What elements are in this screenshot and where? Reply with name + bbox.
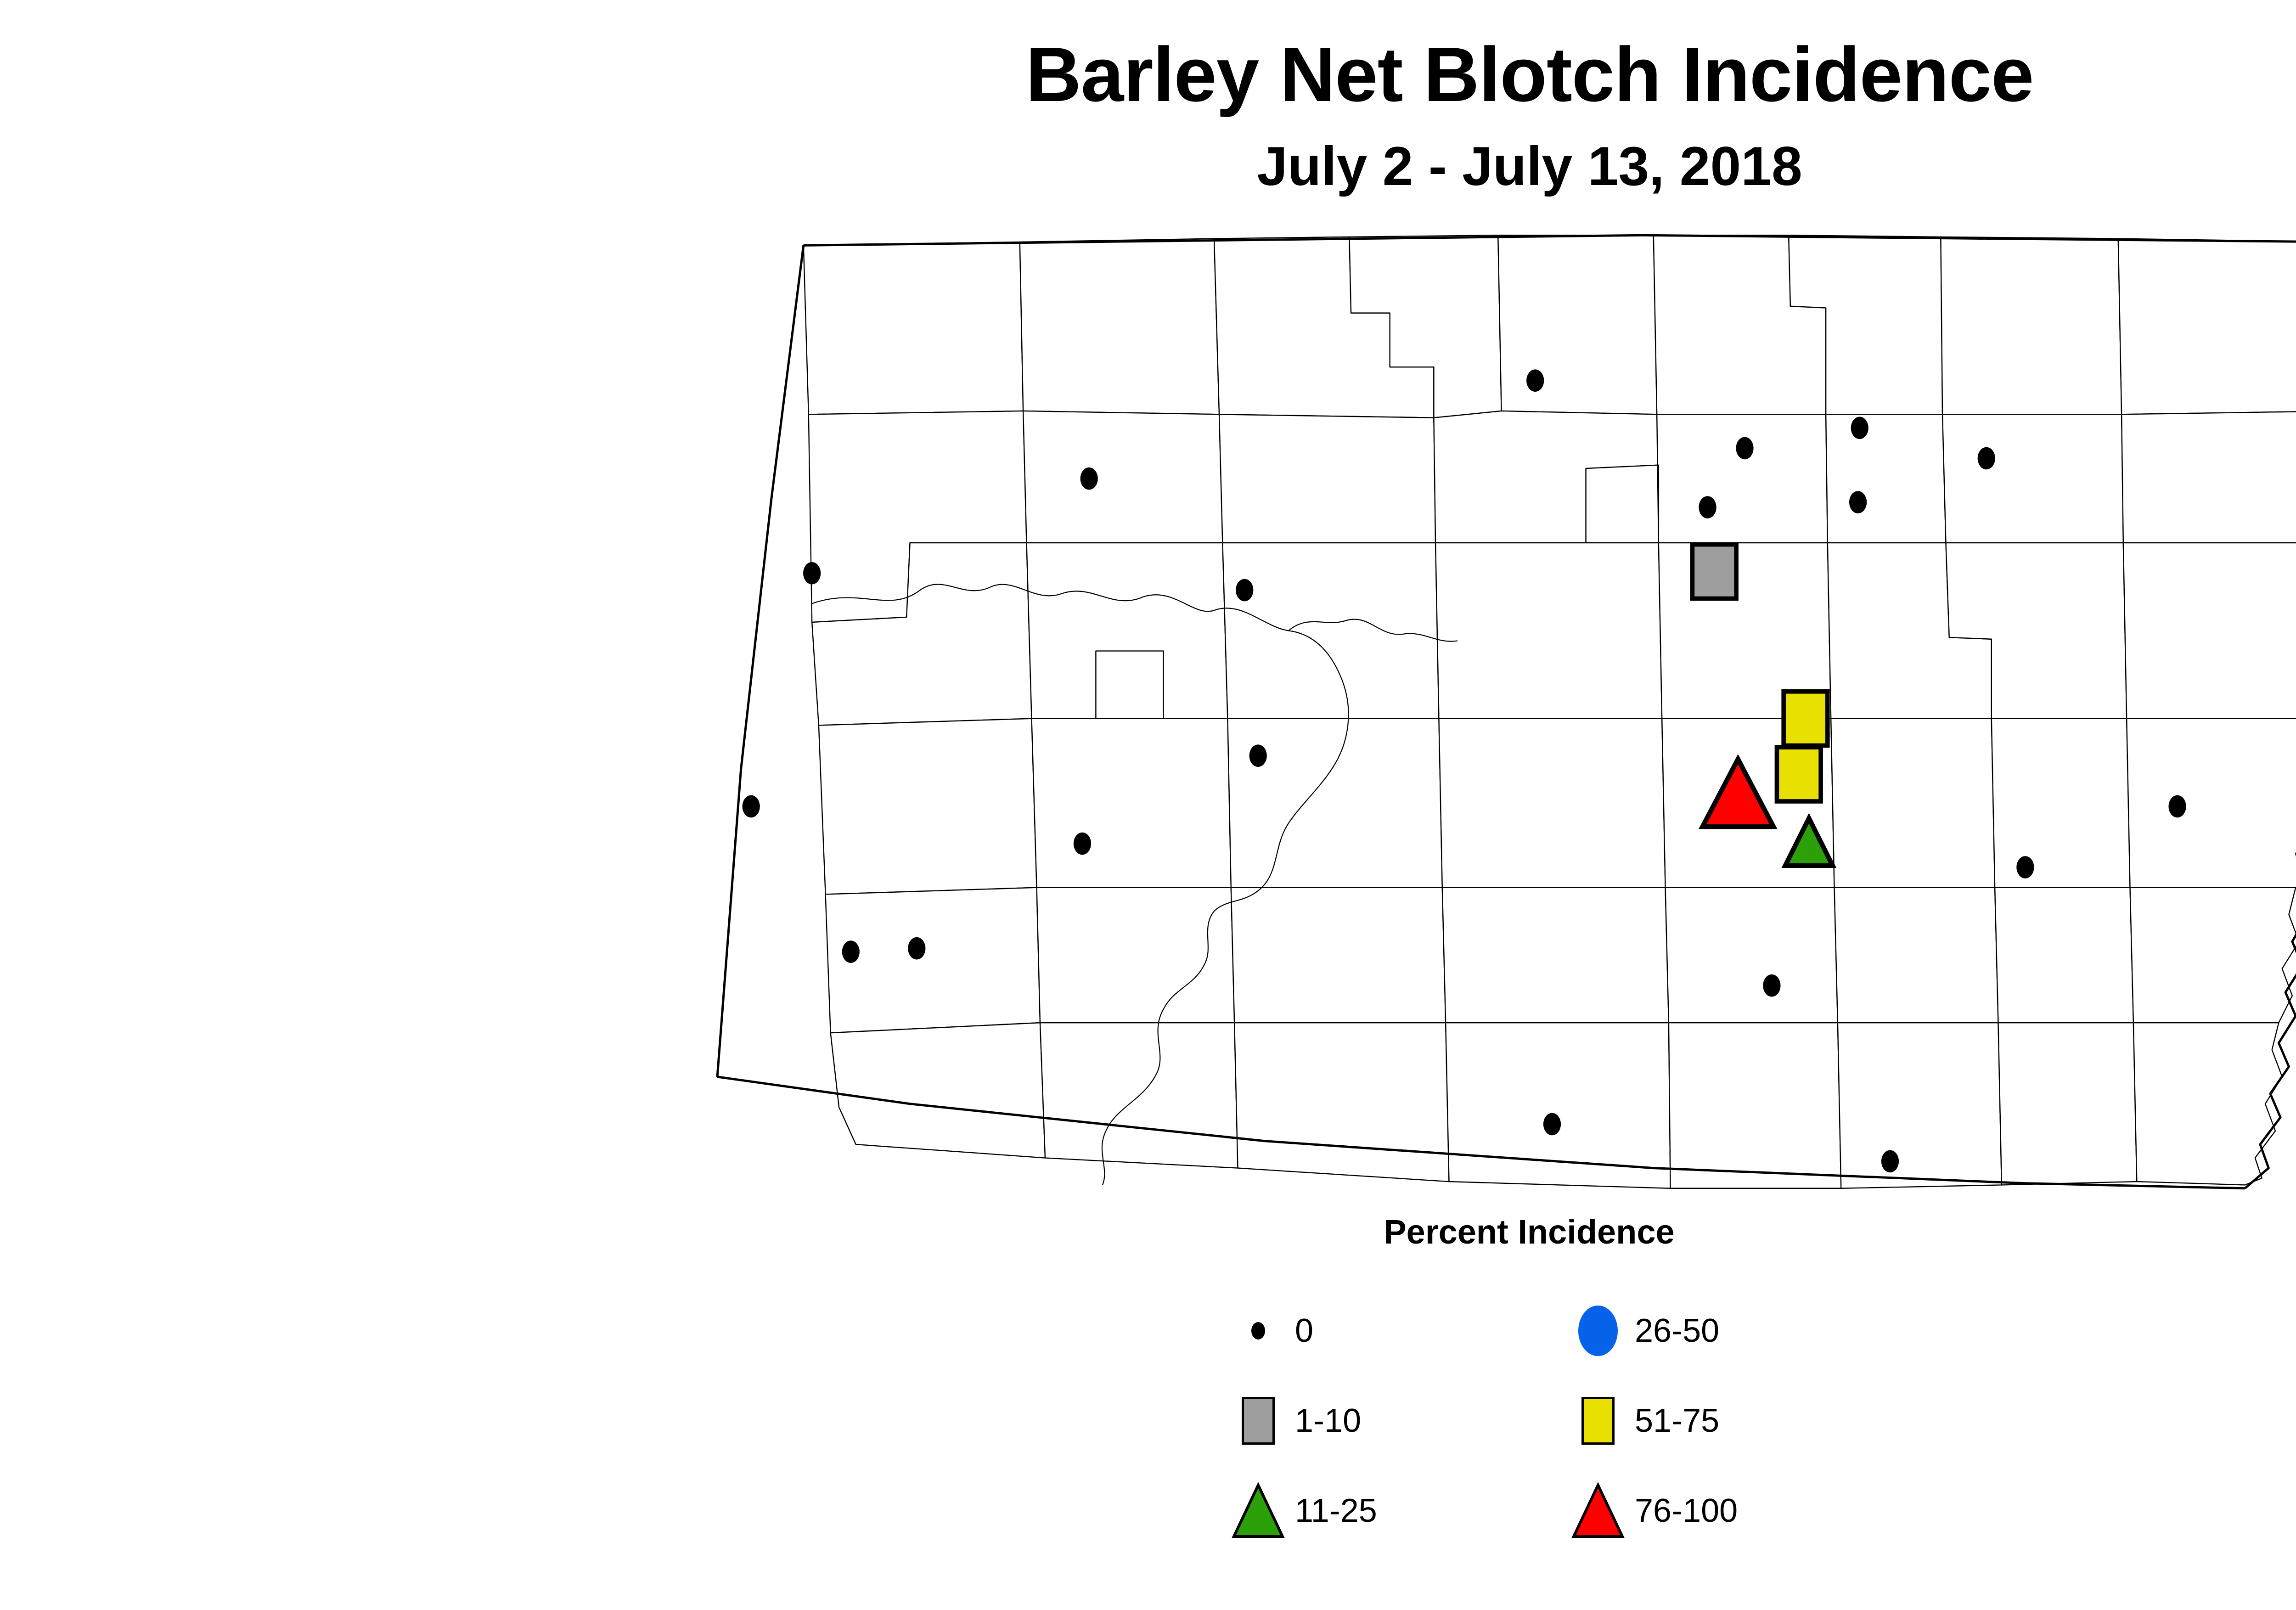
- map-marker-square: [1784, 692, 1828, 746]
- legend-item-2[interactable]: 1-10: [1221, 1376, 1570, 1466]
- legend: Percent Incidence 0 26-50 1-10: [1093, 1212, 1965, 1589]
- legend-item-5[interactable]: 76-100: [1561, 1466, 1965, 1556]
- map-marker-square: [1692, 545, 1736, 599]
- map-marker-dot: [1543, 1113, 1561, 1136]
- map-page: Barley Net Blotch Incidence July 2 - Jul…: [0, 0, 2296, 1610]
- map-marker-dot: [803, 562, 821, 585]
- legend-item-1[interactable]: 26-50: [1561, 1286, 1965, 1376]
- map-marker-dot: [1236, 579, 1253, 602]
- map-marker-dot: [2016, 856, 2034, 878]
- legend-symbol-triangle-green: [1221, 1476, 1295, 1545]
- legend-label: 76-100: [1635, 1492, 1738, 1530]
- map-marker-dot: [1736, 437, 1753, 460]
- map-marker-dot: [1074, 833, 1091, 855]
- map-svg: [707, 211, 2296, 1212]
- map-marker-dot: [1881, 1150, 1899, 1173]
- legend-label: 1-10: [1295, 1402, 1361, 1440]
- legend-symbol-triangle-red: [1561, 1476, 1635, 1545]
- map-marker-dot: [908, 937, 925, 960]
- legend-label: 26-50: [1635, 1312, 1719, 1350]
- legend-item-3[interactable]: 51-75: [1561, 1376, 1965, 1466]
- legend-grid: 0 26-50 1-10 51-75: [1221, 1286, 1965, 1556]
- map-marker-dot: [1849, 491, 1867, 513]
- map-marker-dot: [743, 795, 760, 818]
- legend-title: Percent Incidence: [1093, 1212, 1965, 1251]
- legend-symbol-circle-black: [1221, 1296, 1295, 1365]
- legend-label: 51-75: [1635, 1402, 1719, 1440]
- map-marker-dot: [842, 940, 860, 963]
- legend-label: 11-25: [1295, 1492, 1377, 1530]
- map-marker-dot: [1080, 467, 1098, 490]
- legend-row: 1-10 51-75: [1221, 1376, 1965, 1466]
- county-boundaries: [804, 235, 2296, 1188]
- title-block: Barley Net Blotch Incidence July 2 - Jul…: [0, 0, 2296, 194]
- map-marker-dot: [1526, 369, 1544, 392]
- page-title: Barley Net Blotch Incidence: [0, 36, 2296, 113]
- legend-symbol-square-yellow: [1561, 1386, 1635, 1455]
- map-marker-dot: [1249, 744, 1267, 767]
- legend-row: 0 26-50: [1221, 1286, 1965, 1376]
- legend-symbol-circle-blue: [1561, 1296, 1635, 1365]
- map-marker-dot: [1851, 417, 1868, 439]
- legend-symbol-square-gray: [1221, 1386, 1295, 1455]
- map-marker-dot: [2168, 795, 2186, 818]
- legend-item-0[interactable]: 0: [1221, 1286, 1570, 1376]
- map-marker-dot: [1763, 974, 1780, 997]
- legend-item-4[interactable]: 11-25: [1221, 1466, 1570, 1556]
- legend-label: 0: [1295, 1312, 1313, 1350]
- map-marker-dot: [1699, 496, 1716, 518]
- date-range-subtitle: July 2 - July 13, 2018: [0, 139, 2296, 194]
- legend-row: 11-25 76-100: [1221, 1466, 1965, 1556]
- map-marker-dot: [1978, 447, 1995, 470]
- map-marker-square: [1777, 747, 1821, 801]
- north-dakota-county-map[interactable]: [707, 211, 2296, 1212]
